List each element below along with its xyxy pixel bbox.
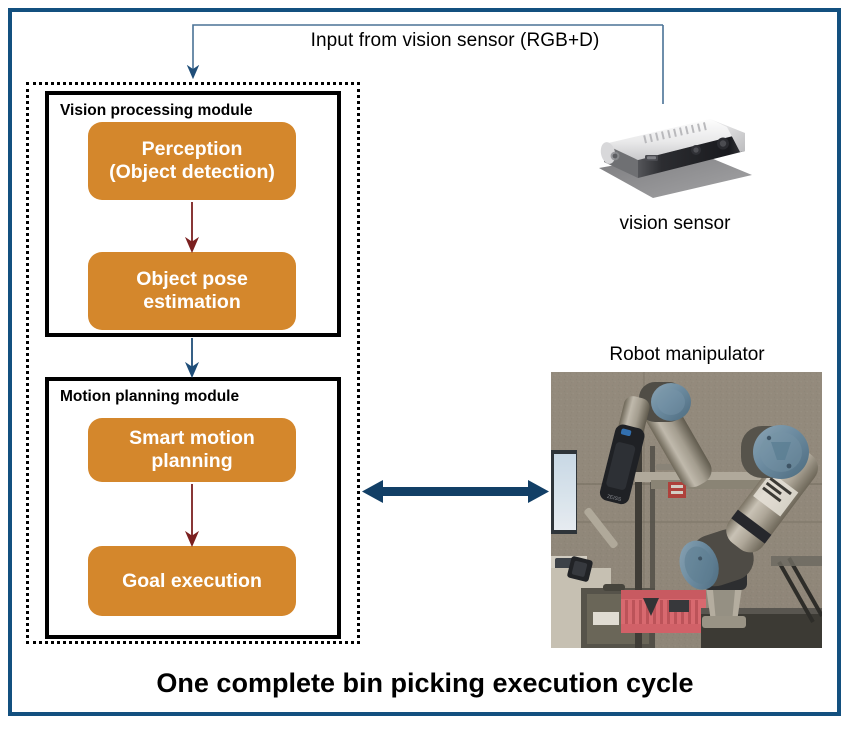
motion-planning-module-title: Motion planning module <box>60 388 239 406</box>
vision-processing-module-title: Vision processing module <box>60 102 253 120</box>
perception-step-label: Perception (Object detection) <box>109 138 275 183</box>
object-pose-estimation-step-box[interactable]: Object pose estimation <box>88 252 296 330</box>
perception-step-box[interactable]: Perception (Object detection) <box>88 122 296 200</box>
robot-arm-photo: ZEISS <box>551 372 822 648</box>
smart-motion-planning-step-box[interactable]: Smart motion planning <box>88 418 296 482</box>
diagram-canvas: Input from vision sensor (RGB+D) Vision … <box>0 0 858 737</box>
vision-sensor-label: vision sensor <box>560 213 790 235</box>
object-pose-estimation-step-label: Object pose estimation <box>136 268 248 313</box>
robot-manipulator-label: Robot manipulator <box>546 344 828 366</box>
depth-camera-icon <box>590 106 760 206</box>
smart-motion-planning-step-label: Smart motion planning <box>129 427 255 472</box>
goal-execution-step-label: Goal execution <box>122 570 262 593</box>
page-caption: One complete bin picking execution cycle <box>20 668 830 699</box>
goal-execution-step-box[interactable]: Goal execution <box>88 546 296 616</box>
input-from-vision-sensor-label: Input from vision sensor (RGB+D) <box>235 30 675 52</box>
